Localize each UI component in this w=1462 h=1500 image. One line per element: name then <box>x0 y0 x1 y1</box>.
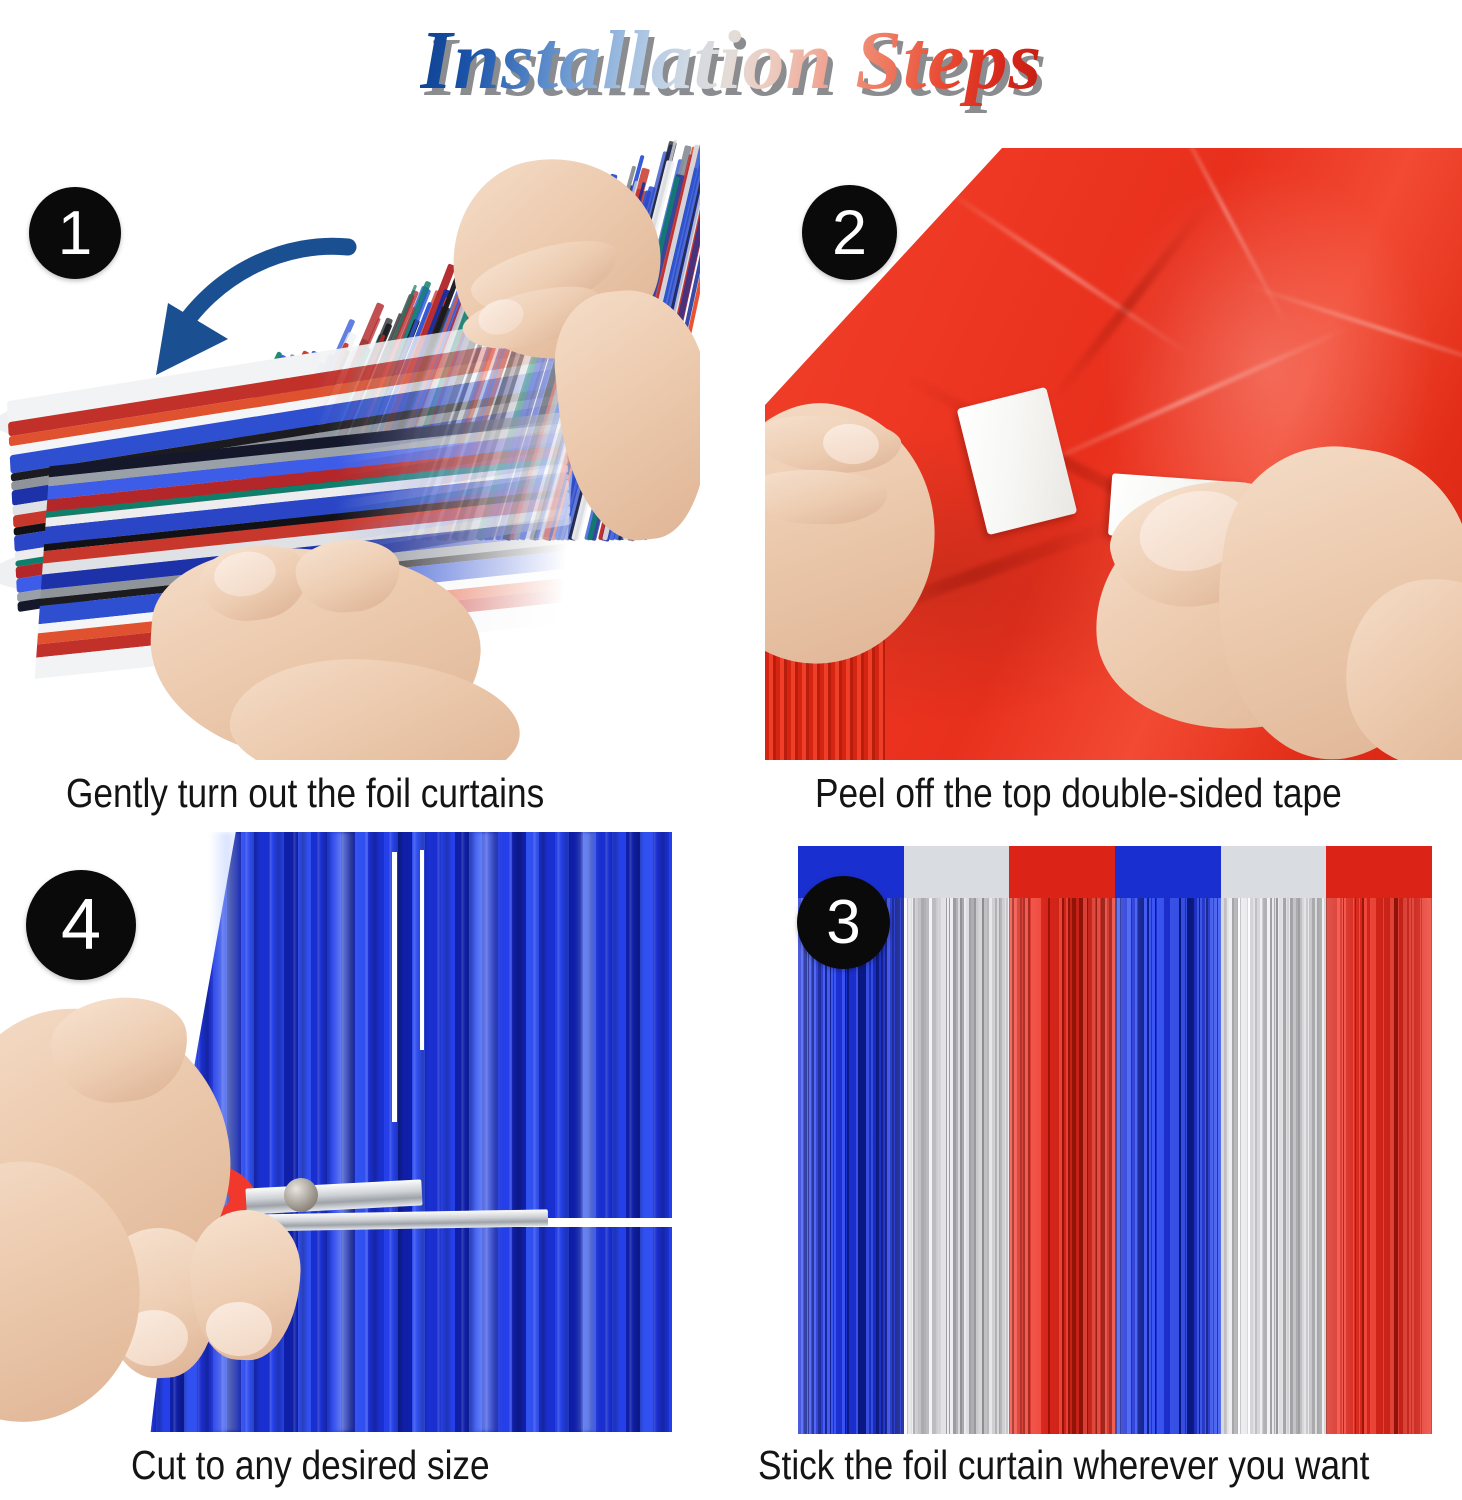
step-4-caption: Cut to any desired size <box>131 1442 490 1489</box>
curtain-sheen <box>1115 898 1221 1434</box>
curtain-panel <box>1221 846 1327 1434</box>
curtain-sheen <box>1221 898 1327 1434</box>
curtain-fringe <box>1326 898 1432 1434</box>
foil-highlight <box>576 832 598 1432</box>
curved-arrow-icon <box>110 235 370 435</box>
step-badge-2: 2 <box>802 185 897 280</box>
curtain-panel <box>904 846 1010 1434</box>
foil-highlight <box>330 832 356 1432</box>
curtain-panel <box>1009 846 1115 1434</box>
curtain-fringe <box>798 898 904 1434</box>
curtain-fringe <box>1009 898 1115 1434</box>
curtain-header-strip <box>904 846 1010 906</box>
curtain-header-strip <box>1115 846 1221 906</box>
curtain-panel <box>1115 846 1221 1434</box>
curtain-fringe <box>1115 898 1221 1434</box>
step-badge-3: 3 <box>797 876 890 969</box>
foil-slit <box>420 850 424 1050</box>
curtain-sheen <box>798 898 904 1434</box>
step-1-caption: Gently turn out the foil curtains <box>66 770 544 817</box>
curtain-fringe <box>904 898 1010 1434</box>
curtain-sheen <box>904 898 1010 1434</box>
foil-slit <box>392 852 397 1122</box>
step-2-caption: Peel off the top double-sided tape <box>815 770 1342 817</box>
foil-curtain-panels <box>798 846 1432 1434</box>
foil-highlight <box>470 832 500 1432</box>
curtain-sheen <box>1009 898 1115 1434</box>
curtain-header-strip <box>1221 846 1327 906</box>
curtain-panel <box>1326 846 1432 1434</box>
page-header: Installation Steps Installation Steps <box>0 0 1462 120</box>
step-badge-1: 1 <box>29 187 121 279</box>
curtain-fringe <box>1221 898 1327 1434</box>
step-3-caption: Stick the foil curtain wherever you want <box>758 1442 1369 1489</box>
curtain-sheen <box>1326 898 1432 1434</box>
page-title: Installation Steps <box>420 12 1043 109</box>
curtain-header-strip <box>1009 846 1115 906</box>
step-badge-4: 4 <box>26 870 136 980</box>
curtain-header-strip <box>1326 846 1432 906</box>
